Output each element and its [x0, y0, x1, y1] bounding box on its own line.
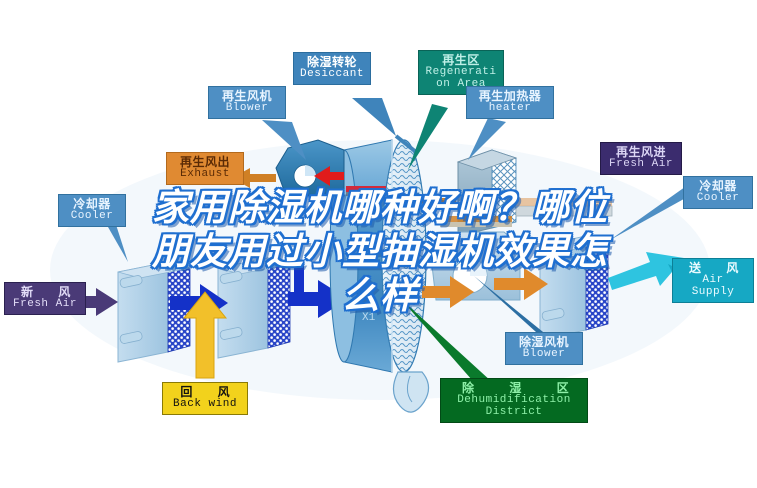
dehumidifier-schematic-diagram: X1 — [0, 0, 757, 488]
label-back-wind-cn: 回 风 — [168, 386, 242, 399]
overlay-headline-line3: 么样 — [60, 274, 700, 318]
label-desiccant-wheel[interactable]: 除湿转轮 Desiccant — [293, 52, 371, 85]
label-regen-exhaust-cn: 再生风出 — [172, 156, 238, 169]
label-desiccant-wheel-cn: 除湿转轮 — [299, 56, 365, 69]
label-desiccant-wheel-en: Desiccant — [299, 69, 365, 81]
label-regen-exhaust[interactable]: 再生风出 Exhaust — [166, 152, 244, 185]
label-regen-inlet-en: Fresh Air — [606, 159, 676, 171]
label-regen-blower[interactable]: 再生风机 Blower — [208, 86, 286, 119]
overlay-headline: 家用除湿机哪种好啊？哪位 朋友用过小型抽湿机效果怎 么样 — [60, 186, 700, 318]
label-dehum-blower[interactable]: 除湿风机 Blower — [505, 332, 583, 365]
label-regen-heater[interactable]: 再生加热器 heater — [466, 86, 554, 119]
label-regen-exhaust-en: Exhaust — [172, 169, 238, 181]
label-regen-heater-cn: 再生加热器 — [472, 90, 548, 103]
label-dehum-district-cn: 除 湿 区 — [446, 382, 582, 395]
label-regen-inlet[interactable]: 再生风进 Fresh Air — [600, 142, 682, 175]
label-regeneration-area-cn: 再生区 — [424, 54, 498, 67]
label-dehumidification-district[interactable]: 除 湿 区 Dehumidification District — [440, 378, 588, 423]
label-dehum-district-en2: District — [446, 407, 582, 419]
label-back-wind[interactable]: 回 风 Back wind — [162, 382, 248, 415]
label-regen-blower-cn: 再生风机 — [214, 90, 280, 103]
label-regen-inlet-cn: 再生风进 — [606, 146, 676, 159]
label-regen-blower-en: Blower — [214, 103, 280, 115]
label-regen-heater-en: heater — [472, 103, 548, 115]
overlay-headline-line2: 朋友用过小型抽湿机效果怎 — [60, 230, 700, 274]
label-dehum-blower-en: Blower — [511, 349, 577, 361]
label-dehum-blower-cn: 除湿风机 — [511, 336, 577, 349]
label-back-wind-en: Back wind — [168, 399, 242, 411]
overlay-headline-line1: 家用除湿机哪种好啊？哪位 — [60, 186, 700, 230]
